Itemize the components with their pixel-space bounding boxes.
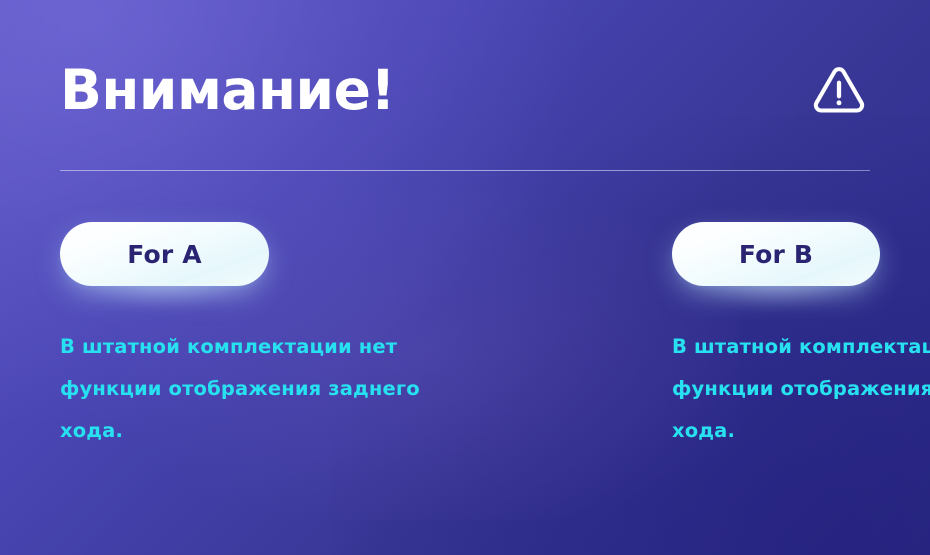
option-column-for-a: For A В штатной комплектации нет функции… — [60, 222, 445, 452]
warning-slide: Внимание! For A В штатной комплектации н… — [0, 0, 930, 555]
slide-header: Внимание! — [60, 52, 870, 138]
for-a-button-wrap: For A — [60, 222, 269, 288]
for-a-description: В штатной комплектации нет функции отобр… — [60, 288, 445, 452]
header-divider — [60, 170, 870, 171]
options-columns: For A В штатной комплектации нет функции… — [60, 222, 872, 452]
warning-triangle-icon — [808, 58, 870, 120]
for-b-description: В штатной комплектации есть функции отоб… — [672, 288, 930, 452]
for-b-button-wrap: For B — [672, 222, 880, 288]
for-b-button[interactable]: For B — [672, 222, 880, 286]
for-a-button[interactable]: For A — [60, 222, 269, 286]
page-title: Внимание! — [60, 52, 395, 128]
option-column-for-b: For B В штатной комплектации есть функци… — [672, 222, 930, 452]
